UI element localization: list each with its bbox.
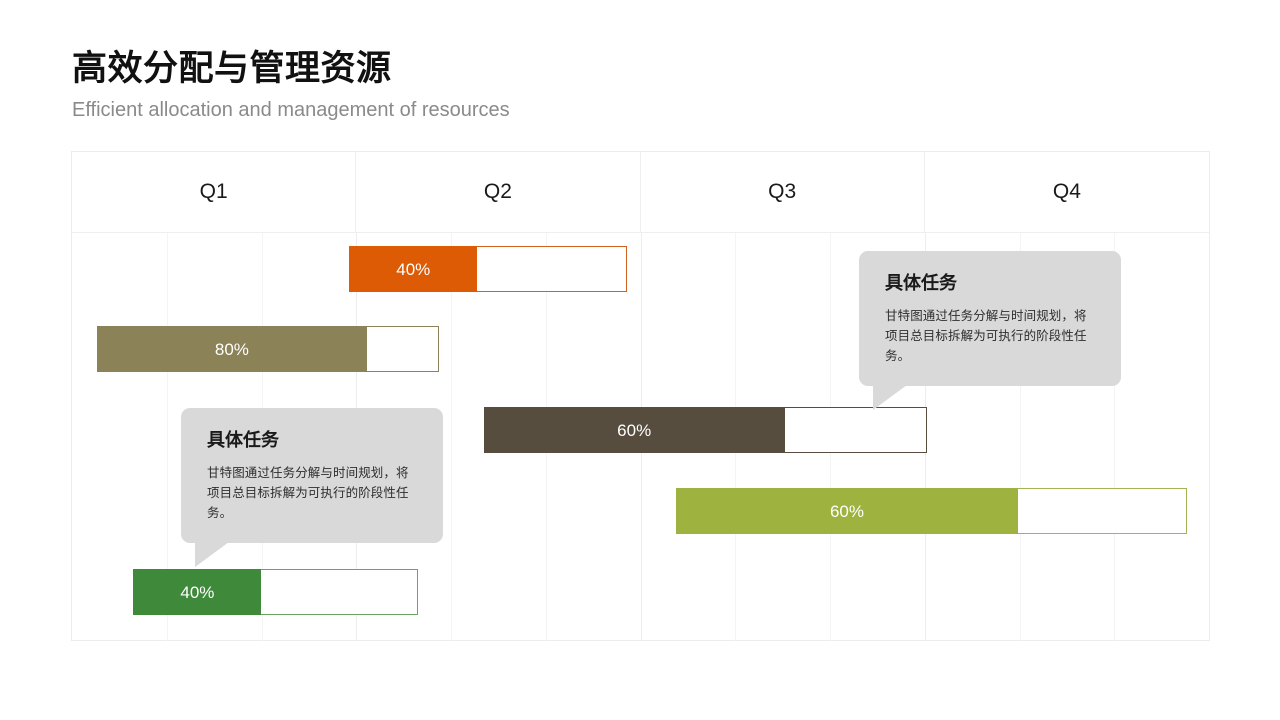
slide-header: 高效分配与管理资源 Efficient allocation and manag…: [72, 48, 972, 122]
gantt-bar-fill: 60%: [676, 488, 1018, 534]
quarter-header-q2: Q2: [356, 152, 640, 232]
task-callout[interactable]: 具体任务甘特图通过任务分解与时间规划，将项目总目标拆解为可执行的阶段性任务。: [181, 408, 443, 543]
gantt-bar-fill: 40%: [349, 246, 477, 292]
slide-root: 高效分配与管理资源 Efficient allocation and manag…: [0, 0, 1280, 720]
callout-tail-icon: [873, 385, 907, 410]
callout-tail-icon: [195, 542, 229, 567]
task-callout[interactable]: 具体任务甘特图通过任务分解与时间规划，将项目总目标拆解为可执行的阶段性任务。: [859, 251, 1121, 386]
callout-body: 甘特图通过任务分解与时间规划，将项目总目标拆解为可执行的阶段性任务。: [207, 463, 417, 524]
gantt-bar-percent-label: 60%: [830, 503, 864, 520]
gantt-bar-percent-label: 40%: [396, 261, 430, 278]
gantt-plot-area: 40%80%60%60%40% 具体任务甘特图通过任务分解与时间规划，将项目总目…: [72, 233, 1209, 641]
gantt-bar[interactable]: 60%: [676, 488, 1188, 534]
gantt-bar-percent-label: 60%: [617, 422, 651, 439]
gantt-bar[interactable]: 60%: [484, 407, 927, 453]
quarter-header-q3: Q3: [641, 152, 925, 232]
quarter-header-q4: Q4: [925, 152, 1209, 232]
quarter-header-q1: Q1: [72, 152, 356, 232]
quarter-header-row: Q1 Q2 Q3 Q4: [72, 152, 1209, 233]
gantt-bar[interactable]: 80%: [97, 326, 439, 372]
callout-title: 具体任务: [207, 430, 417, 452]
gantt-bar[interactable]: 40%: [133, 569, 417, 615]
callout-title: 具体任务: [885, 273, 1095, 295]
gantt-bar-fill: 40%: [133, 569, 261, 615]
gantt-bar[interactable]: 40%: [349, 246, 626, 292]
gantt-bar-percent-label: 80%: [215, 341, 249, 358]
page-title: 高效分配与管理资源: [72, 48, 972, 89]
gantt-bar-fill: 60%: [484, 407, 785, 453]
callout-body: 甘特图通过任务分解与时间规划，将项目总目标拆解为可执行的阶段性任务。: [885, 306, 1095, 367]
gantt-bar-percent-label: 40%: [180, 584, 214, 601]
gantt-bar-fill: 80%: [97, 326, 367, 372]
page-subtitle: Efficient allocation and management of r…: [72, 98, 972, 122]
gantt-chart: Q1 Q2 Q3 Q4 40%80%60%60%40% 具体任务甘特图通过任务分…: [71, 151, 1210, 641]
